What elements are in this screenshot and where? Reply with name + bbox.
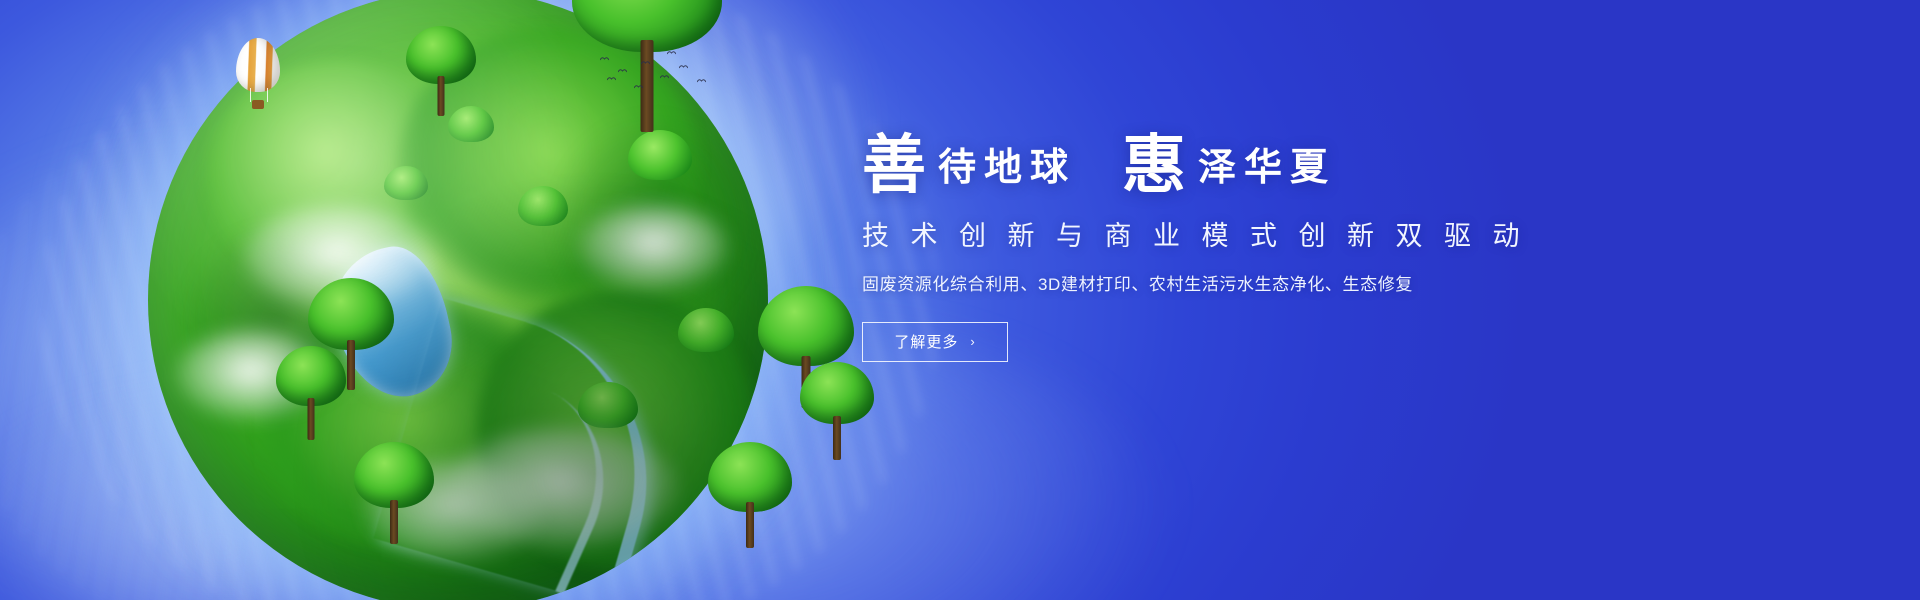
chevron-right-icon: › [970, 335, 975, 348]
learn-more-label: 了解更多 [894, 331, 958, 352]
shrub [678, 308, 734, 352]
bird-icon [641, 60, 650, 65]
hero-text-block: 善 待地球 惠 泽华夏 技 术 创 新 与 商 业 模 式 创 新 双 驱 动 … [862, 130, 1762, 362]
tree-crown [800, 362, 874, 424]
tree-left-lower [276, 346, 346, 438]
bird-icon [679, 64, 688, 69]
tree-upper-left [406, 26, 476, 114]
tree-crown [354, 442, 434, 508]
planet-cloud [448, 428, 678, 548]
headline-char-shan: 善 [862, 134, 928, 198]
tree-right-lower [800, 362, 874, 458]
bird-icon [667, 50, 676, 55]
tree-bottom-left [354, 442, 434, 542]
tree-crown [758, 286, 854, 366]
description: 固废资源化综合利用、3D建材打印、农村生活污水生态净化、生态修复 [862, 272, 1762, 298]
bird-icon [634, 84, 643, 89]
headline: 善 待地球 惠 泽华夏 [862, 130, 1762, 194]
learn-more-button[interactable]: 了解更多 › [862, 322, 1008, 362]
bird-icon [607, 76, 616, 81]
planet-cloud [578, 205, 728, 290]
tree-top [572, 0, 722, 112]
bird-icon [618, 68, 627, 73]
shrub [628, 130, 692, 180]
bird-icon [600, 56, 609, 61]
headline-char-hui: 惠 [1122, 134, 1188, 198]
subtitle: 技 术 创 新 与 商 业 模 式 创 新 双 驱 动 [862, 220, 1762, 252]
balloon-envelope [236, 38, 280, 92]
hero-banner: 善 待地球 惠 泽华夏 技 术 创 新 与 商 业 模 式 创 新 双 驱 动 … [0, 0, 1920, 600]
tree-crown [276, 346, 346, 406]
tree-trunk [390, 500, 398, 544]
forest-shadow [548, 110, 758, 340]
tree-trunk [833, 416, 841, 460]
headline-text-zehuaxia: 泽华夏 [1188, 148, 1336, 194]
bird-icon [660, 74, 669, 79]
headline-text-daidiqiu: 待地球 [928, 148, 1076, 194]
balloon-basket [252, 100, 264, 109]
tree-trunk [347, 340, 355, 390]
shrub [384, 166, 428, 200]
tree-trunk [308, 398, 315, 440]
hot-air-balloon-icon [236, 38, 280, 114]
bird-icon [697, 78, 706, 83]
tree-trunk [438, 76, 445, 116]
shrub [518, 186, 568, 226]
tree-trunk [746, 502, 754, 548]
shrub [578, 382, 638, 428]
tree-bottom-right [708, 442, 792, 546]
river-branch [418, 365, 636, 594]
